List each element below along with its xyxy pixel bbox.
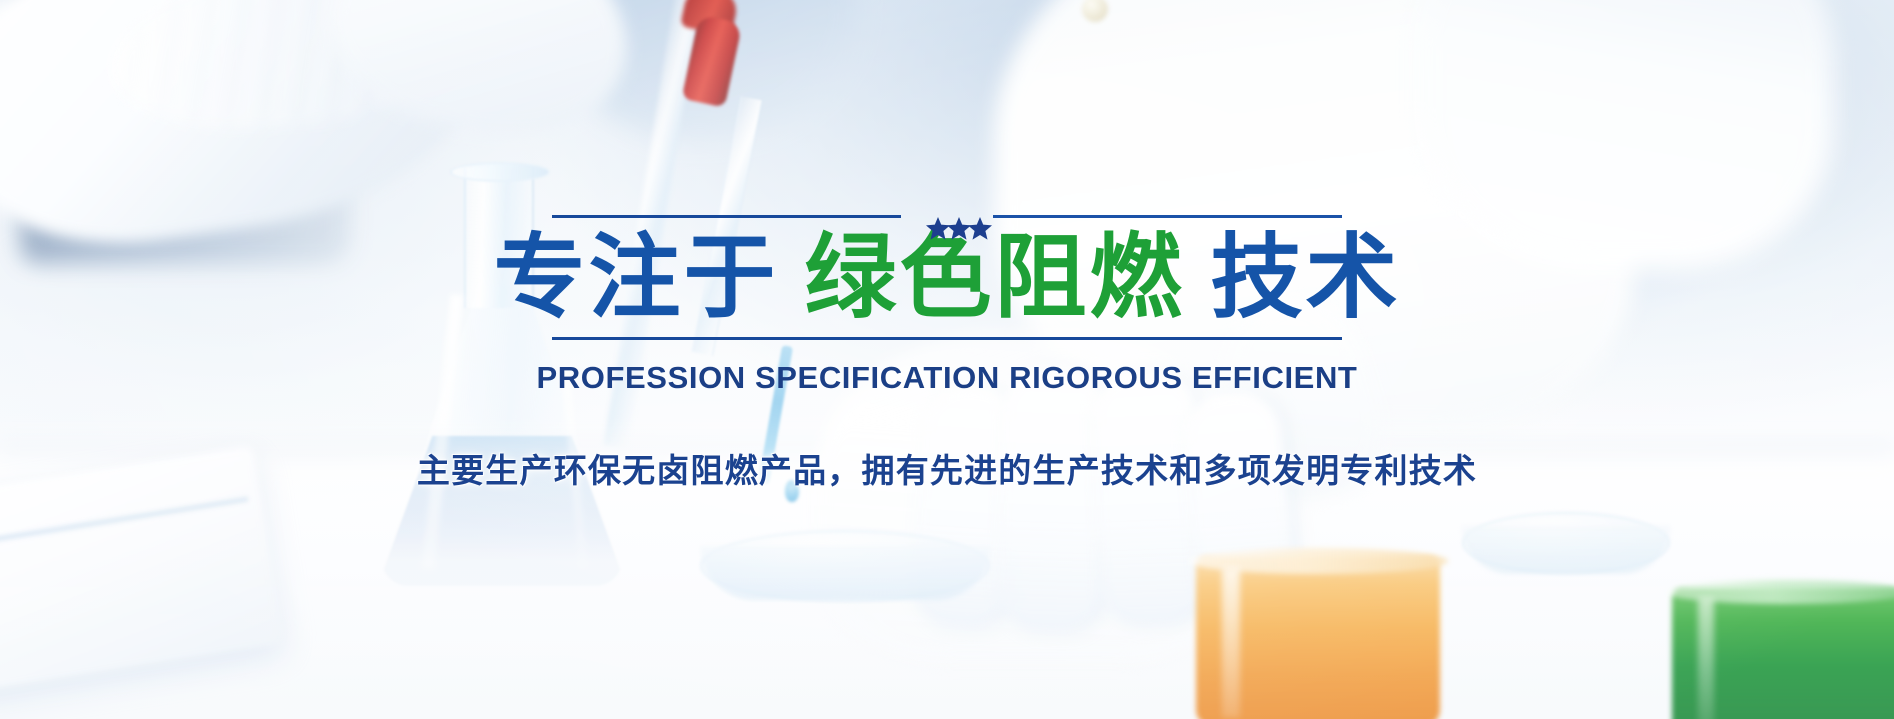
page-title: 专注于 绿色阻燃 技术 (493, 224, 1400, 333)
lab-coat-sleeve-right (1414, 0, 1834, 270)
gloved-finger (1092, 370, 1205, 625)
flask-lip (450, 162, 550, 182)
hero-banner: 专注于 绿色阻燃 技术 PROFESSION SPECIFICATION RIG… (0, 0, 1894, 719)
tagline-chinese: 主要生产环保无卤阻燃产品，拥有先进的生产技术和多项发明专利技术 (417, 444, 1477, 492)
petri-dish-base (700, 546, 990, 600)
divider-line-left (552, 215, 901, 218)
headline-part-2: 绿色阻燃 (804, 224, 1184, 333)
petri-dish-base (1462, 526, 1670, 574)
headline-bottom-rule (552, 337, 1342, 340)
headline-part-1: 专注于 (493, 224, 778, 333)
headline-part-3: 技术 (1211, 224, 1401, 333)
headline-top-divider (552, 215, 1342, 218)
beaker-green-highlight (1698, 598, 1714, 719)
divider-line-right (993, 215, 1342, 218)
subtitle-english: PROFESSION SPECIFICATION RIGOROUS EFFICI… (537, 360, 1358, 396)
beaker-orange-highlight (1222, 568, 1240, 718)
gloved-finger (995, 366, 1108, 631)
